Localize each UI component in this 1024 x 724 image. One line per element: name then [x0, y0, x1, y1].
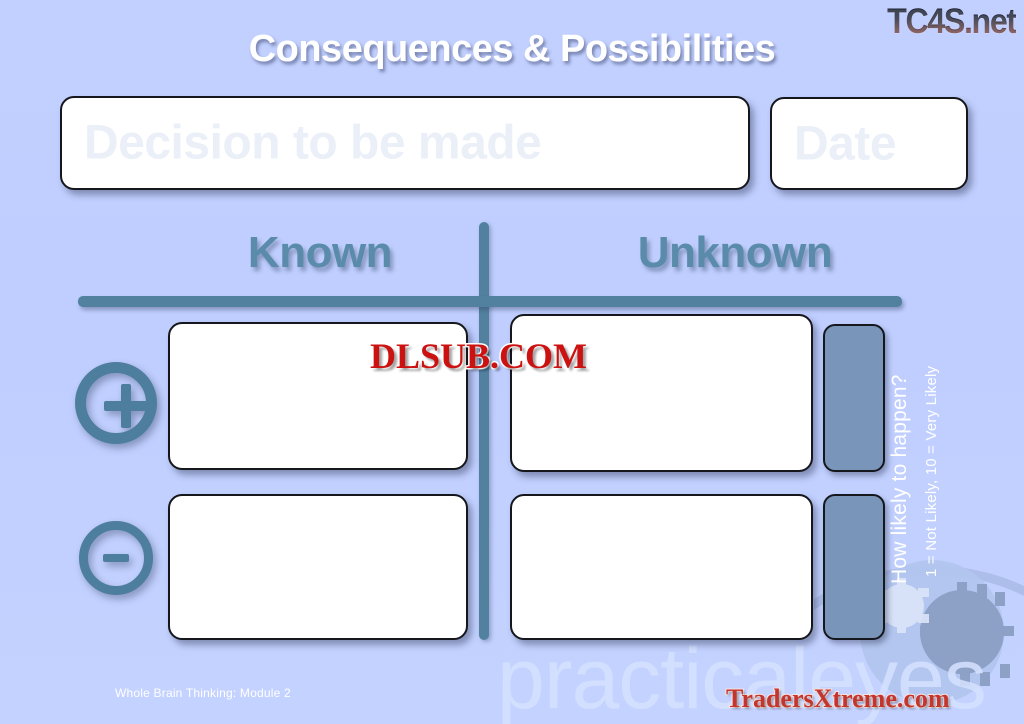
footer-note: Whole Brain Thinking: Module 2 [115, 686, 291, 700]
cell-unknown-negative[interactable] [510, 494, 813, 640]
worksheet-page: practicaleyes Consequences & Possibiliti… [0, 0, 1024, 724]
date-input[interactable]: Date [770, 97, 968, 190]
tc4s-net-logo: TC4S.net [887, 2, 1016, 42]
decision-input[interactable]: Decision to be made [60, 96, 750, 190]
likelihood-question-label: How likely to happen? [888, 374, 912, 584]
vertical-divider [479, 222, 489, 640]
plus-icon-vertical-bar [121, 384, 131, 428]
minus-icon-bar [103, 554, 129, 562]
rating-input-positive[interactable] [823, 324, 885, 472]
horizontal-divider [78, 296, 902, 307]
column-header-known: Known [170, 228, 470, 278]
decision-placeholder: Decision to be made [84, 116, 541, 171]
practicaleyes-wordmark: practicaleyes [497, 636, 986, 722]
tradersxtreme-watermark: TradersXtreme.com [726, 684, 950, 714]
cell-known-positive[interactable] [168, 322, 468, 470]
date-placeholder: Date [794, 116, 896, 171]
likelihood-legend-label: 1 = Not Likely, 10 = Very Likely [923, 366, 940, 577]
cell-unknown-positive[interactable] [510, 314, 813, 472]
column-header-unknown: Unknown [585, 228, 885, 278]
plus-icon [75, 362, 157, 444]
minus-icon [79, 521, 153, 595]
cell-known-negative[interactable] [168, 494, 468, 640]
rating-input-negative[interactable] [823, 494, 885, 640]
page-title: Consequences & Possibilities [0, 28, 1024, 71]
